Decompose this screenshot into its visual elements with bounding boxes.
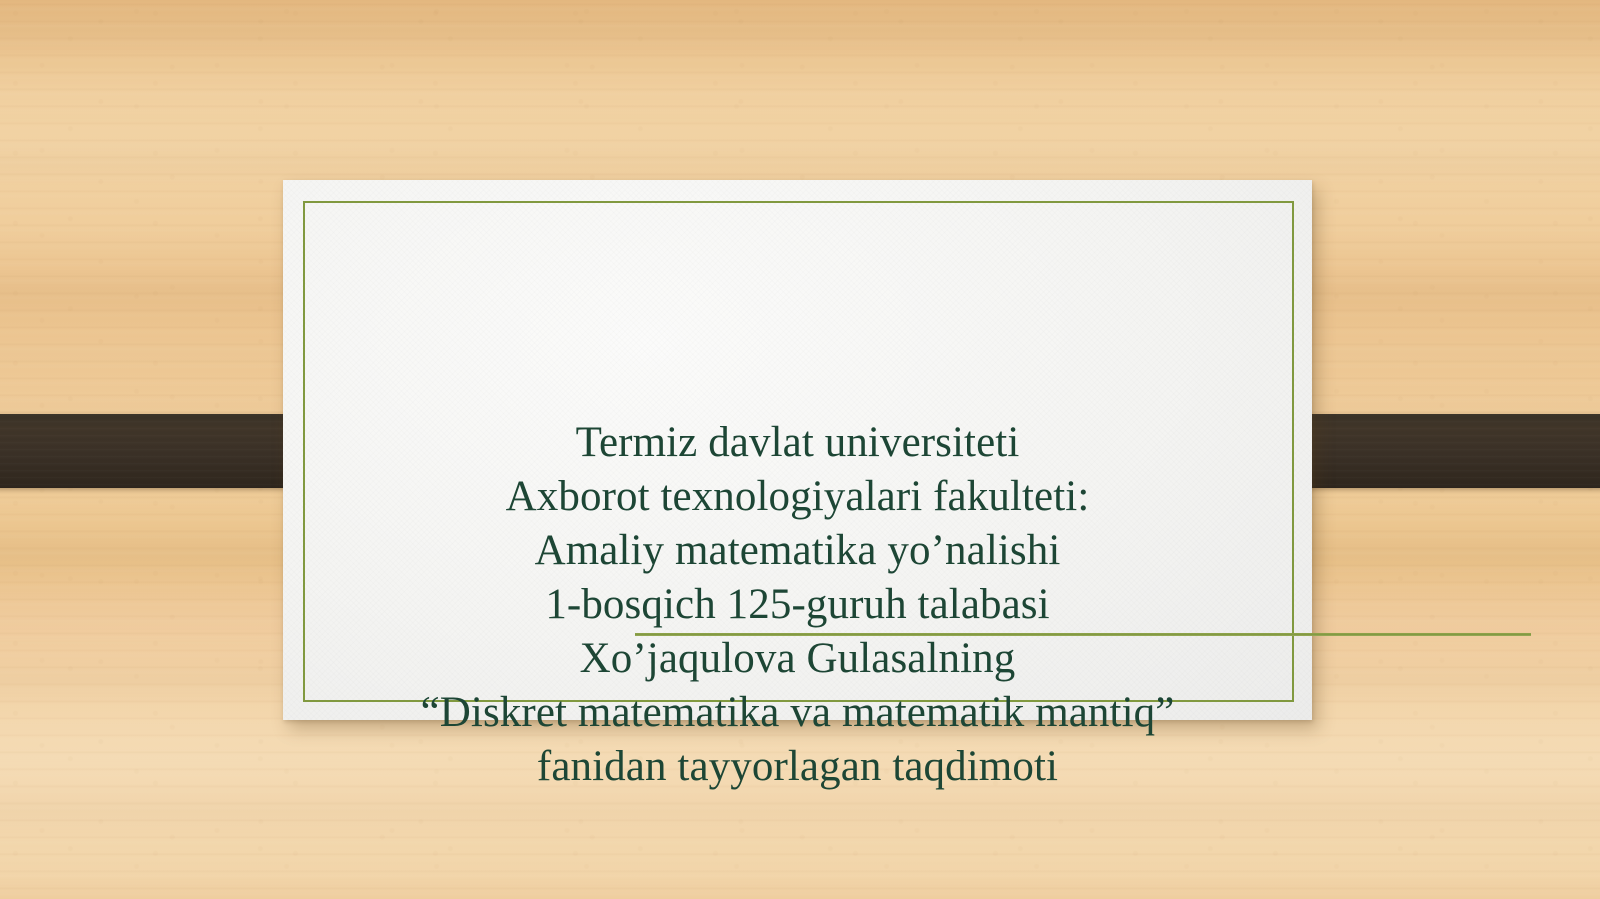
left-dark-band: [0, 414, 323, 488]
page-title: Termiz davlat universiteti Axborot texno…: [283, 416, 1312, 794]
title-line-2: Axborot texnologiyalari fakulteti:: [283, 470, 1312, 524]
title-card: Termiz davlat universiteti Axborot texno…: [283, 180, 1312, 720]
title-divider-rule: [635, 633, 1531, 636]
title-line-1: Termiz davlat universiteti: [283, 416, 1312, 470]
title-line-3: Amaliy matematika yo’nalishi: [283, 524, 1312, 578]
right-dark-band: [1274, 414, 1600, 488]
title-line-5: Xo’jaqulova Gulasalning: [283, 632, 1312, 686]
title-line-6: “Diskret matematika va matematik mantiq”: [283, 686, 1312, 740]
title-slide: Termiz davlat universiteti Axborot texno…: [0, 0, 1600, 899]
title-line-7: fanidan tayyorlagan taqdimoti: [283, 740, 1312, 794]
title-line-4: 1-bosqich 125-guruh talabasi: [283, 578, 1312, 632]
